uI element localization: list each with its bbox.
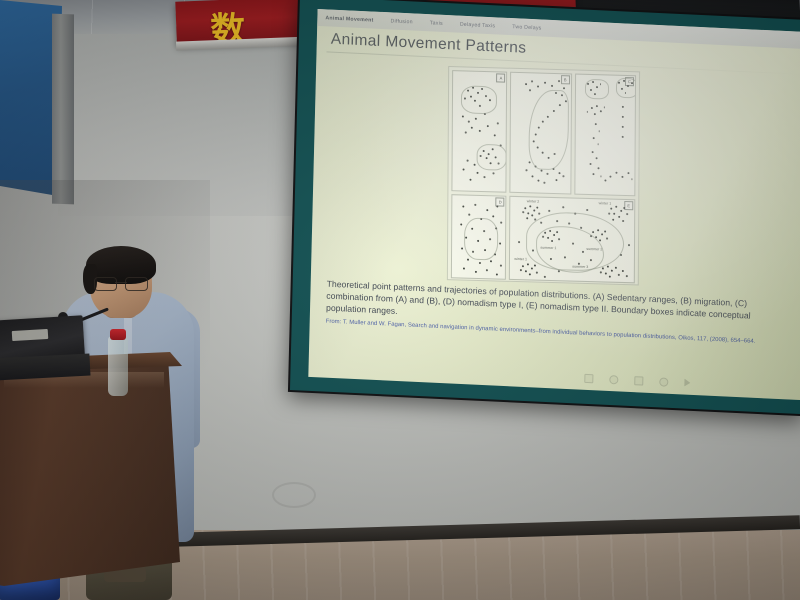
figure-row-top: A [451, 70, 636, 196]
pdf-viewer-toolbar[interactable] [584, 372, 790, 394]
figure-panel-a: A [451, 70, 507, 193]
panel-e-label-winter-2: winter 2 [527, 199, 540, 203]
figure-panel-c: C [574, 74, 636, 197]
projection-screen: Animal Movement Diffusion Taxis Delayed … [288, 0, 800, 418]
wall-mark [272, 482, 316, 508]
previous-page-icon[interactable] [584, 373, 593, 382]
figure-row-bottom: D [451, 194, 635, 283]
lecture-hall-photo: 数 学 matics IT Animal Movement Diffusion [0, 0, 800, 600]
figure-animal-movement-patterns: A [447, 66, 640, 285]
podium [0, 356, 180, 586]
slide-surface: Animal Movement Diffusion Taxis Delayed … [308, 9, 800, 400]
fullscreen-icon[interactable] [659, 377, 668, 386]
figure-panel-b: B [510, 72, 572, 195]
panel-e-label-winter-1-bottom: winter 1 [514, 257, 527, 261]
nav-item-two-delays[interactable]: Two Delays [512, 24, 541, 31]
menu-icon[interactable] [684, 379, 690, 387]
next-page-icon[interactable] [609, 375, 618, 384]
panel-tag-e: E [624, 201, 633, 210]
panel-tag-a: A [496, 73, 505, 82]
nav-item-diffusion[interactable]: Diffusion [390, 18, 412, 25]
wall-column [52, 14, 74, 205]
nav-item-animal-movement[interactable]: Animal Movement [325, 15, 373, 23]
panel-tag-b: B [561, 75, 570, 84]
water-bottle-cap [110, 329, 126, 340]
zoom-icon[interactable] [634, 376, 643, 385]
panel-e-label-winter-1-top: winter 1 [599, 201, 612, 205]
water-bottle [108, 336, 128, 396]
nav-item-delayed-taxis[interactable]: Delayed Taxis [460, 21, 496, 29]
figure-panel-d: D [451, 194, 507, 280]
figure-caption-block: Theoretical point patterns and trajector… [326, 278, 793, 348]
nav-item-taxis[interactable]: Taxis [430, 20, 443, 27]
eyeglasses-bridge [115, 282, 127, 283]
figure-panel-e: E winter 2 winter 1 summer 1 summer 2 wi… [509, 196, 635, 284]
